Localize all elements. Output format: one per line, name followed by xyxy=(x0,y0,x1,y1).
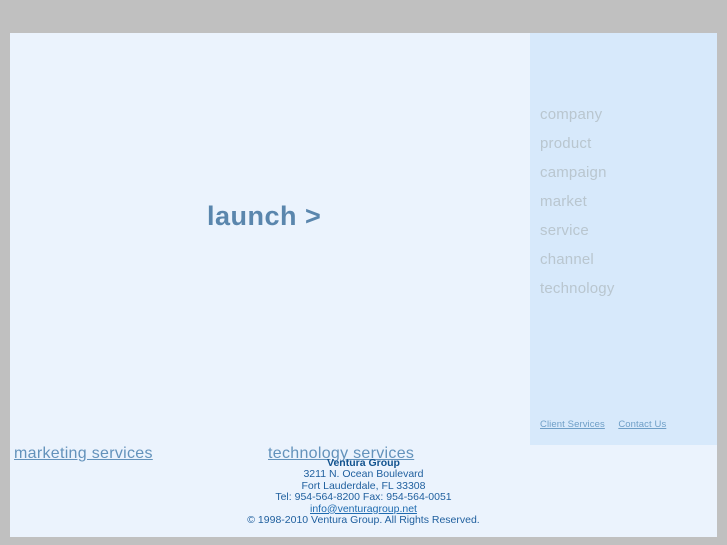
sidebar-item-product[interactable]: product xyxy=(540,129,710,158)
main-content-area: launch > xyxy=(10,33,530,445)
sidebar-nav: company product campaign market service … xyxy=(540,100,710,303)
footer: Ventura Group 3211 N. Ocean Boulevard Fo… xyxy=(10,458,717,526)
sidebar-item-market[interactable]: market xyxy=(540,187,710,216)
sidebar-item-campaign[interactable]: campaign xyxy=(540,158,710,187)
contact-us-link[interactable]: Contact Us xyxy=(618,419,666,430)
sidebar-item-service[interactable]: service xyxy=(540,216,710,245)
client-services-link[interactable]: Client Services xyxy=(540,419,605,430)
footer-copyright: © 1998-2010 Ventura Group. All Rights Re… xyxy=(10,515,717,526)
sidebar-item-company[interactable]: company xyxy=(540,100,710,129)
footer-email-link[interactable]: info@venturagroup.net xyxy=(310,503,417,515)
sidebar-item-channel[interactable]: channel xyxy=(540,245,710,274)
sidebar-utility-links: Client Services Contact Us xyxy=(540,414,715,432)
launch-headline-link[interactable]: launch > xyxy=(207,201,321,232)
sidebar-item-technology[interactable]: technology xyxy=(540,274,710,303)
page-frame: launch > company product campaign market… xyxy=(10,33,717,537)
sidebar: company product campaign market service … xyxy=(530,33,717,445)
